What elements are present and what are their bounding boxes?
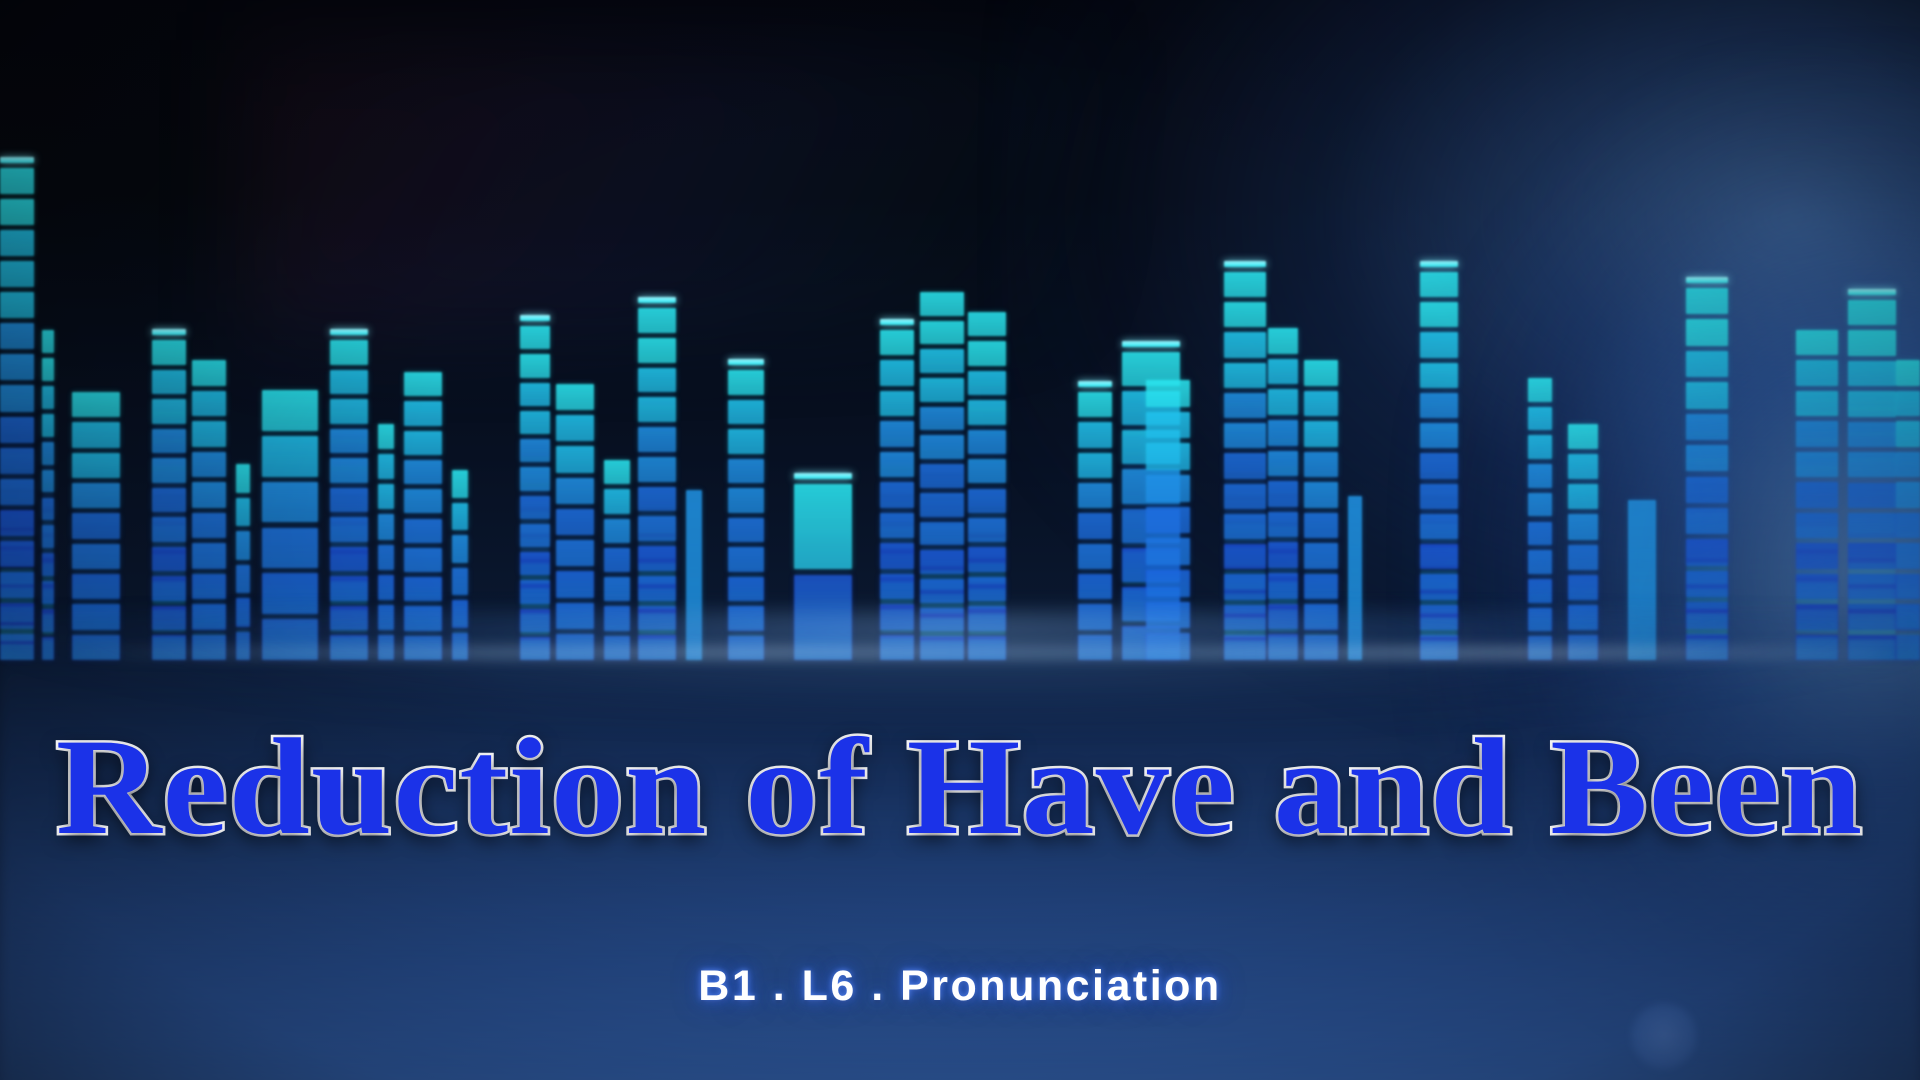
equalizer-segment xyxy=(638,538,676,559)
equalizer-segment xyxy=(920,360,964,379)
equalizer-segment xyxy=(1224,430,1266,449)
equalizer-segment xyxy=(1146,443,1190,470)
equalizer-segment xyxy=(42,385,54,406)
equalizer-segment xyxy=(520,538,550,559)
equalizer-segment xyxy=(1304,421,1338,447)
equalizer-segment xyxy=(1796,443,1838,466)
equalizer-peak-cap xyxy=(880,319,914,325)
equalizer-segment xyxy=(728,459,764,484)
equalizer-peak-cap xyxy=(1224,261,1266,267)
equalizer-segment xyxy=(968,538,1006,559)
equalizer-segment xyxy=(1224,272,1266,297)
equalizer-segment xyxy=(1146,538,1190,565)
equalizer-segment xyxy=(1420,332,1458,357)
equalizer-segment xyxy=(520,360,550,381)
equalizer-segment xyxy=(1420,454,1458,473)
equalizer-segment xyxy=(42,330,54,353)
equalizer-segment xyxy=(192,513,226,539)
equalizer-segment xyxy=(728,488,764,513)
equalizer-segment xyxy=(152,498,186,521)
equalizer-segment xyxy=(1848,411,1896,432)
equalizer-segment xyxy=(1528,435,1552,459)
equalizer-peak-cap xyxy=(152,329,186,335)
equalizer-segment xyxy=(1686,461,1728,482)
equalizer-segment xyxy=(1304,391,1338,417)
equalizer-segment xyxy=(920,383,964,402)
equalizer-segment xyxy=(1224,407,1266,426)
equalizer-segment xyxy=(1420,407,1458,426)
equalizer-segment xyxy=(638,411,676,432)
equalizer-segment xyxy=(880,471,914,494)
equalizer-segment xyxy=(920,477,964,496)
equalizer-segment xyxy=(880,388,914,411)
equalizer-segment xyxy=(520,385,550,406)
equalizer-segment xyxy=(1796,360,1838,383)
equalizer-segment xyxy=(728,518,764,543)
equalizer-segment xyxy=(968,512,1006,533)
equalizer-segment xyxy=(378,484,394,509)
equalizer-segment xyxy=(42,538,54,559)
equalizer-segment xyxy=(0,455,34,471)
equalizer-segment xyxy=(1896,482,1920,508)
equalizer-segment xyxy=(1078,544,1112,569)
equalizer-segment xyxy=(1528,550,1552,574)
equalizer-segment xyxy=(728,577,764,602)
equalizer-segment xyxy=(1146,570,1190,597)
equalizer-segment xyxy=(152,388,186,411)
equalizer-segment xyxy=(1304,543,1338,569)
equalizer-segment xyxy=(1078,513,1112,538)
equalizer-segment xyxy=(1304,452,1338,478)
equalizer-segment xyxy=(638,487,676,508)
equalizer-segment xyxy=(920,500,964,519)
equalizer-peak-cap xyxy=(1420,261,1458,267)
equalizer-segment xyxy=(728,547,764,572)
equalizer-segment xyxy=(0,199,34,225)
equalizer-segment xyxy=(404,460,442,484)
equalizer-segment xyxy=(1528,378,1552,402)
equalizer-segment xyxy=(192,452,226,478)
equalizer-segment xyxy=(330,498,368,521)
equalizer-segment xyxy=(1224,570,1266,589)
equalizer-segment xyxy=(330,471,368,494)
equalizer-segment xyxy=(880,443,914,466)
floor-light-streak xyxy=(60,648,1880,658)
slide-canvas: Reduction of Have and Been B1 . L6 . Pro… xyxy=(0,0,1920,1080)
equalizer-segment xyxy=(920,292,964,316)
equalizer-segment xyxy=(72,574,120,599)
equalizer-segment xyxy=(42,411,54,432)
equalizer-segment xyxy=(1146,412,1190,439)
equalizer-segment xyxy=(192,360,226,386)
equalizer-segment xyxy=(1224,524,1266,543)
subtitle-lesson-label: B1 . L6 . Pronunciation xyxy=(0,962,1920,1011)
equalizer-segment xyxy=(1568,424,1598,449)
equalizer-segment xyxy=(404,519,442,543)
equalizer-segment xyxy=(378,514,394,539)
equalizer-segment xyxy=(0,568,34,584)
equalizer-segment xyxy=(42,462,54,483)
equalizer-segment xyxy=(1268,388,1298,411)
equalizer-segment xyxy=(1896,360,1920,386)
equalizer-segment xyxy=(72,544,120,569)
equalizer-segment xyxy=(1528,493,1552,517)
equalizer-segment xyxy=(1146,507,1190,534)
equalizer-segment xyxy=(378,545,394,570)
equalizer-segment xyxy=(262,436,318,477)
equalizer-segment xyxy=(920,321,964,345)
equalizer-segment xyxy=(404,431,442,455)
equalizer-segment xyxy=(1848,436,1896,457)
equalizer-segment xyxy=(0,549,34,565)
equalizer-segment xyxy=(452,535,468,563)
equalizer-segment xyxy=(1848,385,1896,406)
equalizer-segment xyxy=(1896,391,1920,417)
equalizer-segment xyxy=(1568,545,1598,570)
equalizer-segment xyxy=(404,372,442,396)
equalizer-segment xyxy=(638,461,676,482)
equalizer-segment xyxy=(968,563,1006,584)
equalizer-peak-cap xyxy=(728,359,764,365)
equalizer-segment xyxy=(1078,392,1112,417)
equalizer-segment xyxy=(1686,288,1728,314)
equalizer-segment xyxy=(1224,477,1266,496)
equalizer-peak-cap xyxy=(1848,289,1896,295)
equalizer-segment xyxy=(0,230,34,256)
equalizer-segment xyxy=(1078,422,1112,447)
equalizer-segment xyxy=(1896,543,1920,569)
equalizer-segment xyxy=(330,388,368,411)
equalizer-segment xyxy=(1304,360,1338,386)
equalizer-segment xyxy=(1224,383,1266,402)
equalizer-peak-cap xyxy=(638,297,676,303)
equalizer-segment xyxy=(880,330,914,355)
equalizer-segment xyxy=(1686,537,1728,558)
equalizer-peak-cap xyxy=(1686,277,1728,283)
equalizer-segment xyxy=(1420,500,1458,519)
equalizer-segment xyxy=(1568,454,1598,479)
equalizer-segment xyxy=(378,424,394,449)
equalizer-segment xyxy=(192,543,226,569)
equalizer-segment xyxy=(604,519,630,543)
equalizer-segment xyxy=(0,511,34,527)
equalizer-segment xyxy=(330,443,368,466)
equalizer-segment xyxy=(1078,453,1112,478)
equalizer-segment xyxy=(1686,411,1728,432)
equalizer-segment xyxy=(1796,330,1838,355)
equalizer-peak-cap xyxy=(520,315,550,321)
equalizer-peak-cap xyxy=(1078,381,1112,387)
equalizer-segment xyxy=(1268,328,1298,354)
equalizer-segment xyxy=(1796,471,1838,494)
equalizer-segment xyxy=(1224,500,1266,519)
equalizer-segment xyxy=(192,421,226,447)
equalizer-segment xyxy=(1224,302,1266,327)
equalizer-segment xyxy=(638,563,676,584)
equalizer-segment xyxy=(236,565,250,594)
equalizer-segment xyxy=(152,554,186,577)
equalizer-segment xyxy=(556,415,594,441)
equalizer-segment xyxy=(1078,483,1112,508)
equalizer-segment xyxy=(1420,302,1458,327)
equalizer-segment xyxy=(330,360,368,383)
equalizer-segment xyxy=(556,509,594,535)
equalizer-segment xyxy=(404,401,442,425)
equalizer-segment xyxy=(1146,380,1190,407)
equalizer-segment xyxy=(638,512,676,533)
equalizer-segment xyxy=(1224,547,1266,566)
equalizer-segment xyxy=(42,512,54,533)
equalizer-segment xyxy=(556,540,594,566)
equalizer-segment xyxy=(152,471,186,494)
equalizer-segment xyxy=(1268,360,1298,383)
equalizer-segment xyxy=(236,531,250,560)
equalizer-segment xyxy=(0,530,34,546)
equalizer-segment xyxy=(1224,332,1266,357)
equalizer-segment xyxy=(968,487,1006,508)
equalizer-segment xyxy=(192,391,226,417)
equalizer-segment xyxy=(604,548,630,572)
equalizer-segment xyxy=(1420,272,1458,297)
equalizer-segment xyxy=(520,563,550,584)
equalizer-segment xyxy=(1686,436,1728,457)
equalizer-segment xyxy=(794,484,852,569)
equalizer-segment xyxy=(192,574,226,600)
equalizer-segment xyxy=(920,524,964,543)
equalizer-segment xyxy=(1146,475,1190,502)
equalizer-segment xyxy=(1420,570,1458,589)
equalizer-segment xyxy=(452,503,468,531)
equalizer-segment xyxy=(1268,443,1298,466)
equalizer-segment xyxy=(1848,330,1896,355)
equalizer-segment xyxy=(1304,574,1338,600)
equalizer-segment xyxy=(1304,482,1338,508)
equalizer-segment xyxy=(1224,454,1266,473)
equalizer-segment xyxy=(1568,514,1598,539)
equalizer-segment xyxy=(1078,574,1112,599)
equalizer-segment xyxy=(968,312,1006,336)
equalizer-segment xyxy=(920,407,964,426)
title-block: Reduction of Have and Been xyxy=(0,718,1920,856)
equalizer-segment xyxy=(330,526,368,549)
equalizer-segment xyxy=(880,498,914,521)
equalizer-segment xyxy=(378,454,394,479)
equalizer-segment xyxy=(638,308,676,333)
equalizer-segment xyxy=(1420,430,1458,449)
equalizer-segment xyxy=(1848,360,1896,381)
equalizer-segment xyxy=(1420,524,1458,543)
equalizer-segment xyxy=(968,360,1006,381)
equalizer-segment xyxy=(72,513,120,538)
equalizer-segment xyxy=(0,398,34,414)
equalizer-peak-cap xyxy=(794,473,852,479)
equalizer-segment xyxy=(1896,452,1920,478)
equalizer-segment xyxy=(1686,487,1728,508)
equalizer-segment xyxy=(404,577,442,601)
equalizer-segment xyxy=(0,493,34,509)
equalizer-segment xyxy=(1268,415,1298,438)
equalizer-segment xyxy=(0,417,34,433)
equalizer-segment xyxy=(728,400,764,425)
equalizer-segment xyxy=(0,323,34,349)
equalizer-segment xyxy=(1568,484,1598,509)
equalizer-segment xyxy=(1848,537,1896,558)
equalizer-segment xyxy=(404,548,442,572)
equalizer-segment xyxy=(1848,487,1896,508)
equalizer-segment xyxy=(1268,526,1298,549)
equalizer-segment xyxy=(604,489,630,513)
equalizer-segment xyxy=(1796,415,1838,438)
equalizer-segment xyxy=(604,460,630,484)
equalizer-segment xyxy=(1896,574,1920,600)
equalizer-segment xyxy=(880,526,914,549)
equalizer-segment xyxy=(0,360,34,376)
equalizer-segment xyxy=(1528,522,1552,546)
equalizer-segment xyxy=(1268,471,1298,494)
equalizer-segment xyxy=(452,470,468,498)
equalizer-segment xyxy=(1420,360,1458,379)
equalizer-segment xyxy=(42,436,54,457)
equalizer-segment xyxy=(638,338,676,363)
equalizer-segment xyxy=(638,385,676,406)
equalizer-segment xyxy=(728,370,764,395)
equalizer-segment xyxy=(968,385,1006,406)
equalizer-segment xyxy=(452,568,468,596)
equalizer-segment xyxy=(236,498,250,527)
equalizer-segment xyxy=(152,443,186,466)
equalizer-segment xyxy=(152,415,186,438)
equalizer-segment xyxy=(72,392,120,417)
equalizer-segment xyxy=(378,575,394,600)
equalizer-segment xyxy=(404,489,442,513)
equalizer-segment xyxy=(1796,554,1838,577)
equalizer-segment xyxy=(880,360,914,383)
equalizer-segment xyxy=(72,422,120,447)
page-title: Reduction of Have and Been xyxy=(56,718,1863,856)
equalizer-segment xyxy=(42,487,54,508)
equalizer-segment xyxy=(1848,563,1896,584)
equalizer-segment xyxy=(1420,477,1458,496)
equalizer-segment xyxy=(0,379,34,395)
equalizer-segment xyxy=(1224,360,1266,379)
equalizer-segment xyxy=(1568,575,1598,600)
equalizer-segment xyxy=(192,482,226,508)
equalizer-segment xyxy=(0,292,34,318)
equalizer-segment xyxy=(1686,512,1728,533)
equalizer-segment xyxy=(0,436,34,452)
equalizer-segment xyxy=(728,429,764,454)
equalizer-segment xyxy=(1796,498,1838,521)
equalizer-segment xyxy=(1896,513,1920,539)
equalizer-segment xyxy=(1420,547,1458,566)
equalizer-segment xyxy=(1848,512,1896,533)
equalizer-segment xyxy=(236,464,250,493)
equalizer-segment xyxy=(1686,360,1728,381)
equalizer-segment xyxy=(1528,407,1552,431)
equalizer-segment xyxy=(152,526,186,549)
equalizer-segment xyxy=(152,360,186,383)
equalizer-segment xyxy=(262,390,318,431)
equalizer-segment xyxy=(556,571,594,597)
equalizer-segment xyxy=(520,512,550,533)
equalizer-segment xyxy=(1686,386,1728,407)
equalizer-segment xyxy=(880,415,914,438)
equalizer-segment xyxy=(920,547,964,566)
equalizer-segment xyxy=(968,436,1006,457)
equalizer-segment xyxy=(1796,388,1838,411)
equalizer-segment xyxy=(1528,464,1552,488)
equalizer-segment xyxy=(1896,421,1920,447)
equalizer-segment xyxy=(556,384,594,410)
equalizer-peak-cap xyxy=(0,157,34,163)
equalizer-segment xyxy=(520,487,550,508)
equalizer-segment xyxy=(72,483,120,508)
equalizer-segment xyxy=(520,326,550,349)
equalizer-segment xyxy=(604,577,630,601)
equalizer-segment xyxy=(42,563,54,584)
equalizer-segment xyxy=(330,415,368,438)
equalizer-segment xyxy=(968,411,1006,432)
equalizer-segment xyxy=(42,360,54,381)
equalizer-segment xyxy=(556,478,594,504)
equalizer-segment xyxy=(520,411,550,432)
equalizer-segment xyxy=(72,453,120,478)
equalizer-segment xyxy=(920,571,964,590)
equalizer-segment xyxy=(1268,498,1298,521)
equalizer-segment xyxy=(638,360,676,381)
equalizer-segment xyxy=(520,436,550,457)
equalizer-segment xyxy=(330,554,368,577)
equalizer-segment xyxy=(1268,554,1298,577)
equalizer-segment xyxy=(0,474,34,490)
equalizer-segment xyxy=(262,482,318,523)
equalizer-segment xyxy=(520,462,550,483)
equalizer-segment xyxy=(880,554,914,577)
equalizer-segment xyxy=(638,436,676,457)
equalizer-segment xyxy=(1848,461,1896,482)
equalizer-peak-cap xyxy=(330,329,368,335)
equalizer-peak-cap xyxy=(1122,341,1180,347)
equalizer-segment xyxy=(0,261,34,287)
equalizer-segment xyxy=(920,454,964,473)
equalizer-segment xyxy=(1686,563,1728,584)
equalizer-segment xyxy=(0,168,34,194)
equalizer-segment xyxy=(1686,319,1728,345)
equalizer-segment xyxy=(262,528,318,569)
equalizer-segment xyxy=(1848,300,1896,325)
equalizer-segment xyxy=(1796,526,1838,549)
equalizer-segment xyxy=(1420,383,1458,402)
equalizer-segment xyxy=(920,430,964,449)
equalizer-segment xyxy=(1304,513,1338,539)
equalizer-segment xyxy=(556,446,594,472)
equalizer-segment xyxy=(968,461,1006,482)
